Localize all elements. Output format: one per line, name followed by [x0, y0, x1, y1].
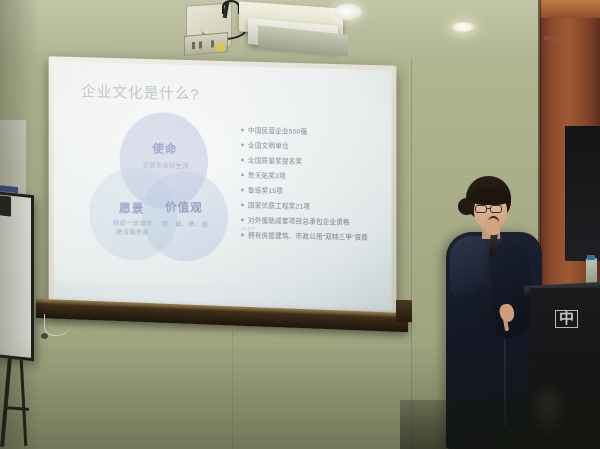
venn-subtext-mission: 安居乐业好生活	[126, 162, 206, 173]
presentation-room-photo: 企业文化是什么? 使命 安居乐业好生活 愿景 缔造一流城市 建设服务商 价值观 …	[0, 0, 600, 449]
venn-diagram: 使命 安居乐业好生活 愿景 缔造一流城市 建设服务商 价值观 信、诚、德、创	[89, 111, 225, 264]
list-item: 鲁班奖15项	[241, 184, 392, 197]
venn-subtext-values: 信、诚、德、创	[152, 221, 218, 231]
lectern-logo: 中	[555, 310, 578, 328]
bullet-text: 全国质量奖提名奖	[248, 155, 302, 166]
bullet-text: 对外援助成套项目总承包企业资格	[248, 214, 350, 226]
list-item: 拥有房屋建筑、市政公用“双特三甲”资质	[241, 229, 392, 242]
glasses-icon	[490, 205, 502, 213]
bullet-dot-icon	[241, 128, 244, 131]
bullet-text: 詹天佑奖2项	[248, 170, 286, 181]
cable-tag	[216, 44, 225, 52]
bullet-dot-icon	[241, 173, 244, 176]
venn-label-vision: 愿景	[103, 200, 159, 217]
bottle-cap	[587, 255, 595, 260]
bullet-dot-icon	[241, 233, 244, 236]
list-item: 詹天佑奖2项	[241, 169, 392, 182]
bullet-dot-icon	[241, 143, 244, 146]
venn-label-mission: 使命	[137, 140, 193, 157]
venn-label-values: 价值观	[156, 199, 212, 216]
glasses-icon	[475, 205, 487, 213]
bullet-text: 国家优质工程奖21项	[248, 199, 310, 210]
slide-title: 企业文化是什么?	[81, 80, 199, 104]
bullet-dot-icon	[241, 158, 244, 161]
projector-cable	[222, 0, 240, 14]
list-item: 国家优质工程奖21项	[241, 199, 392, 212]
bullet-dot-icon	[241, 188, 244, 191]
bullet-text: 拥有房屋建筑、市政公用“双特三甲”资质	[248, 229, 368, 241]
bullet-dot-icon	[241, 203, 244, 206]
ceiling-light-icon	[451, 22, 475, 33]
bullet-text: 鲁班奖15项	[248, 185, 283, 196]
bottom-shadow-gradient	[0, 339, 600, 449]
list-item: 中国民营企业500强	[241, 124, 392, 138]
projector-lamp-icon	[334, 4, 362, 20]
bullet-dot-icon	[241, 218, 244, 221]
screen-frame: 企业文化是什么? 使命 安居乐业好生活 愿景 缔造一流城市 建设服务商 价值观 …	[49, 56, 397, 315]
list-item: 对外援助成套项目总承包企业资格	[241, 214, 392, 227]
bullet-text: 全国文明单位	[248, 140, 289, 151]
list-item: 全国文明单位	[241, 139, 392, 153]
presenter-hand-holding-mic	[486, 218, 500, 235]
slide-footnote: 资料来源	[241, 226, 255, 230]
presenter-fringe	[470, 188, 510, 205]
slide-surface: 企业文化是什么? 使命 安居乐业好生活 愿景 缔造一流城市 建设服务商 价值观 …	[54, 61, 392, 310]
slide-bullet-list: 中国民营企业500强 全国文明单位 全国质量奖提名奖 詹天佑奖2项	[241, 124, 392, 247]
pen-tray-end-cap	[396, 300, 412, 323]
bullet-text: 中国民营企业500强	[248, 125, 307, 136]
wood-column-top	[540, 0, 600, 18]
list-item: 全国质量奖提名奖	[241, 154, 392, 167]
projection-screen[interactable]: 企业文化是什么? 使命 安居乐业好生活 愿景 缔造一流城市 建设服务商 价值观 …	[49, 56, 397, 315]
glasses-bridge	[487, 208, 491, 209]
venn-subtext-vision-line2: 建设服务商	[93, 229, 172, 239]
